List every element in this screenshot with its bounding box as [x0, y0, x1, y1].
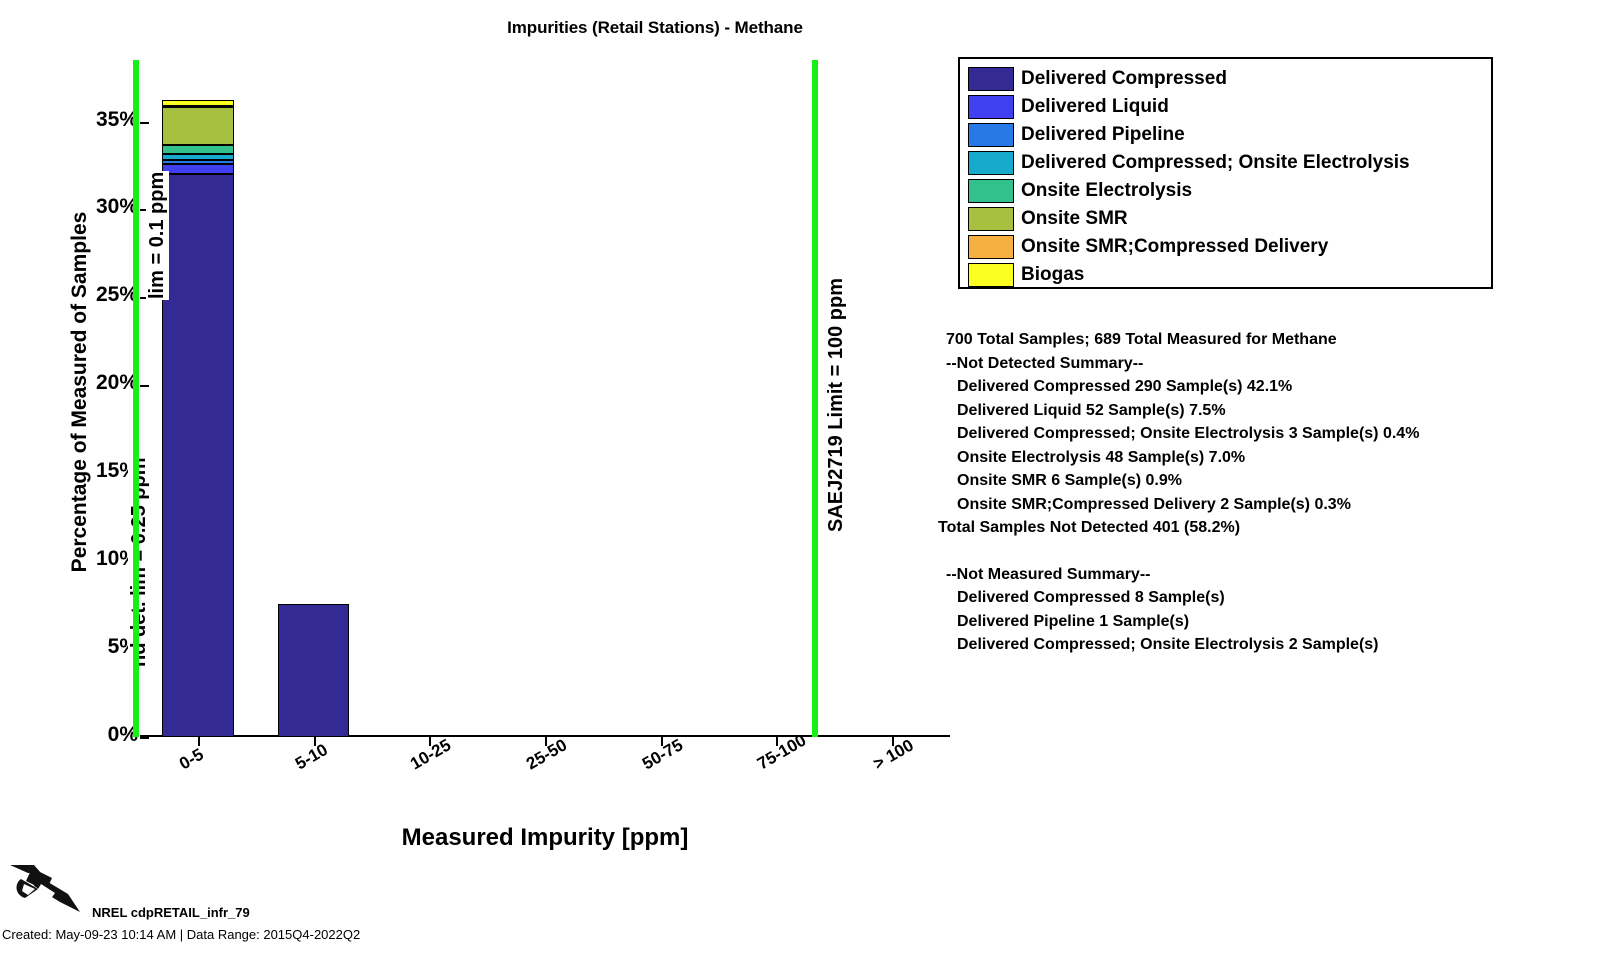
legend-swatch-icon — [968, 179, 1014, 203]
bar-segment — [162, 107, 234, 145]
legend-item-label: Onsite SMR — [1021, 208, 1128, 230]
legend-swatch-icon — [968, 263, 1014, 287]
legend-swatch-icon — [968, 235, 1014, 259]
legend-item-label: Delivered Liquid — [1021, 96, 1169, 118]
summary-line: Delivered Compressed 8 Sample(s) — [938, 586, 1558, 610]
legend-item[interactable]: Biogas — [968, 261, 1491, 289]
legend-swatch-icon — [968, 67, 1014, 91]
summary-text-block: 700 Total Samples; 689 Total Measured fo… — [938, 328, 1558, 657]
created-timestamp: Created: May-09-23 10:14 AM | Data Range… — [2, 927, 360, 942]
summary-line: 700 Total Samples; 689 Total Measured fo… — [938, 328, 1558, 352]
bar-segment — [278, 604, 350, 737]
legend-item[interactable]: Onsite SMR;Compressed Delivery — [968, 233, 1491, 261]
legend-item[interactable]: Delivered Pipeline — [968, 121, 1491, 149]
y-tick-label: 10% — [18, 547, 138, 571]
y-tick-label: 0% — [18, 723, 138, 747]
limit-line-detection-limit-1st — [133, 60, 139, 737]
x-tick-mark — [198, 737, 200, 746]
y-tick-mark — [140, 385, 149, 387]
legend-item[interactable]: Delivered Liquid — [968, 93, 1491, 121]
legend-item[interactable]: Delivered Compressed; Onsite Electrolysi… — [968, 149, 1491, 177]
legend: Delivered CompressedDelivered LiquidDeli… — [958, 57, 1493, 289]
summary-line: Delivered Compressed; Onsite Electrolysi… — [938, 422, 1558, 446]
bar-segment — [162, 164, 234, 174]
y-tick-label: 20% — [18, 371, 138, 395]
legend-item-label: Onsite SMR;Compressed Delivery — [1021, 236, 1328, 258]
legend-item-label: Delivered Compressed — [1021, 68, 1227, 90]
x-tick-label: 75-100 — [754, 731, 810, 775]
summary-line: Delivered Pipeline 1 Sample(s) — [938, 610, 1558, 634]
bar-segment — [162, 106, 234, 108]
limit-line-sae-limit — [812, 60, 818, 737]
summary-line: Delivered Liquid 52 Sample(s) 7.5% — [938, 399, 1558, 423]
limit-label-detection-limit-2nd: nd det. lim = 0.25 ppm — [128, 457, 151, 669]
summary-line: Delivered Compressed 290 Sample(s) 42.1% — [938, 375, 1558, 399]
legend-swatch-icon — [968, 123, 1014, 147]
legend-swatch-icon — [968, 207, 1014, 231]
summary-line: Onsite SMR 6 Sample(s) 0.9% — [938, 469, 1558, 493]
summary-line: --Not Measured Summary-- — [938, 563, 1558, 587]
legend-item-label: Delivered Compressed; Onsite Electrolysi… — [1021, 152, 1410, 174]
summary-line: Onsite SMR;Compressed Delivery 2 Sample(… — [938, 493, 1558, 517]
x-tick-label: 5-10 — [292, 740, 331, 774]
legend-swatch-icon — [968, 151, 1014, 175]
legend-item-label: Biogas — [1021, 264, 1084, 286]
summary-line: Onsite Electrolysis 48 Sample(s) 7.0% — [938, 446, 1558, 470]
legend-item[interactable]: Onsite SMR — [968, 205, 1491, 233]
bar-segment — [162, 160, 234, 164]
y-tick-label: 30% — [18, 195, 138, 219]
bar-segment — [162, 154, 234, 160]
legend-item[interactable]: Delivered Compressed — [968, 65, 1491, 93]
summary-line: Total Samples Not Detected 401 (58.2%) — [938, 516, 1558, 540]
fuel-nozzle-icon — [8, 862, 86, 919]
y-tick-label: 5% — [18, 635, 138, 659]
y-tick-label: 25% — [18, 283, 138, 307]
summary-spacer — [938, 540, 1558, 563]
legend-item-label: Onsite Electrolysis — [1021, 180, 1192, 202]
legend-swatch-icon — [968, 95, 1014, 119]
summary-line: Delivered Compressed; Onsite Electrolysi… — [938, 633, 1558, 657]
bar-segment — [162, 145, 234, 154]
limit-label-detection-limit-1st: lim = 0.1 ppm — [146, 171, 169, 300]
y-tick-mark — [140, 122, 149, 124]
nrel-chart-id: NREL cdpRETAIL_infr_79 — [92, 905, 250, 920]
bar-segment — [162, 100, 234, 106]
page-title: Impurities (Retail Stations) - Methane — [0, 18, 1310, 38]
legend-item[interactable]: Onsite Electrolysis — [968, 177, 1491, 205]
legend-item-label: Delivered Pipeline — [1021, 124, 1185, 146]
summary-line: --Not Detected Summary-- — [938, 352, 1558, 376]
limit-label-sae-limit: SAEJ2719 Limit = 100 ppm — [825, 277, 848, 533]
y-tick-label: 35% — [18, 108, 138, 132]
x-tick-label: 0-5 — [176, 745, 207, 775]
x-axis-title: Measured Impurity [ppm] — [140, 824, 950, 852]
y-tick-label: 15% — [18, 459, 138, 483]
y-tick-mark — [140, 737, 149, 739]
bar-segment — [162, 174, 234, 737]
